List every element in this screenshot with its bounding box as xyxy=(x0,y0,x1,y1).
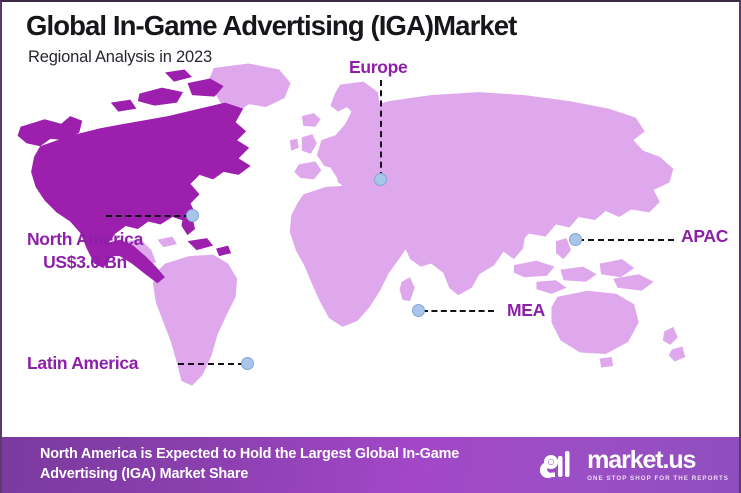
logo-text-block: market.us ONE STOP SHOP FOR THE REPORTS xyxy=(587,448,729,482)
region-name-europe: Europe xyxy=(349,57,408,77)
leader-line-europe xyxy=(380,80,382,178)
footer-banner: North America is Expected to Hold the La… xyxy=(2,437,741,493)
world-map-container: North America US$3.0 Bn Latin America Eu… xyxy=(2,2,741,439)
marker-mea[interactable] xyxy=(412,304,425,317)
logo-tagline: ONE STOP SHOP FOR THE REPORTS xyxy=(587,475,729,482)
region-value-north-america: US$3.0 Bn xyxy=(10,251,160,274)
region-name-latin-america: Latin America xyxy=(27,353,138,373)
market-us-bars-logo-icon xyxy=(536,448,580,482)
region-label-latin-america: Latin America xyxy=(27,353,138,374)
marker-latin-america[interactable] xyxy=(241,357,254,370)
region-name-apac: APAC xyxy=(681,226,728,246)
marker-north-america[interactable] xyxy=(186,209,199,222)
marker-europe[interactable] xyxy=(374,173,387,186)
leader-line-mea xyxy=(422,310,494,312)
region-label-europe: Europe xyxy=(349,57,408,78)
leader-line-latin-america xyxy=(178,363,244,365)
banner-headline: North America is Expected to Hold the La… xyxy=(40,445,520,484)
region-name-north-america: North America xyxy=(27,229,143,249)
marker-apac[interactable] xyxy=(569,233,582,246)
infographic-root: Global In-Game Advertising (IGA)Market R… xyxy=(0,0,741,493)
region-name-mea: MEA xyxy=(507,300,545,320)
region-label-apac: APAC xyxy=(681,226,728,247)
market-us-logo[interactable]: market.us ONE STOP SHOP FOR THE REPORTS xyxy=(536,446,729,484)
leader-line-north-america xyxy=(106,215,190,217)
region-label-mea: MEA xyxy=(507,300,545,321)
region-label-north-america: North America US$3.0 Bn xyxy=(10,228,160,274)
leader-line-apac xyxy=(578,239,674,241)
logo-wordmark: market.us xyxy=(587,448,695,473)
